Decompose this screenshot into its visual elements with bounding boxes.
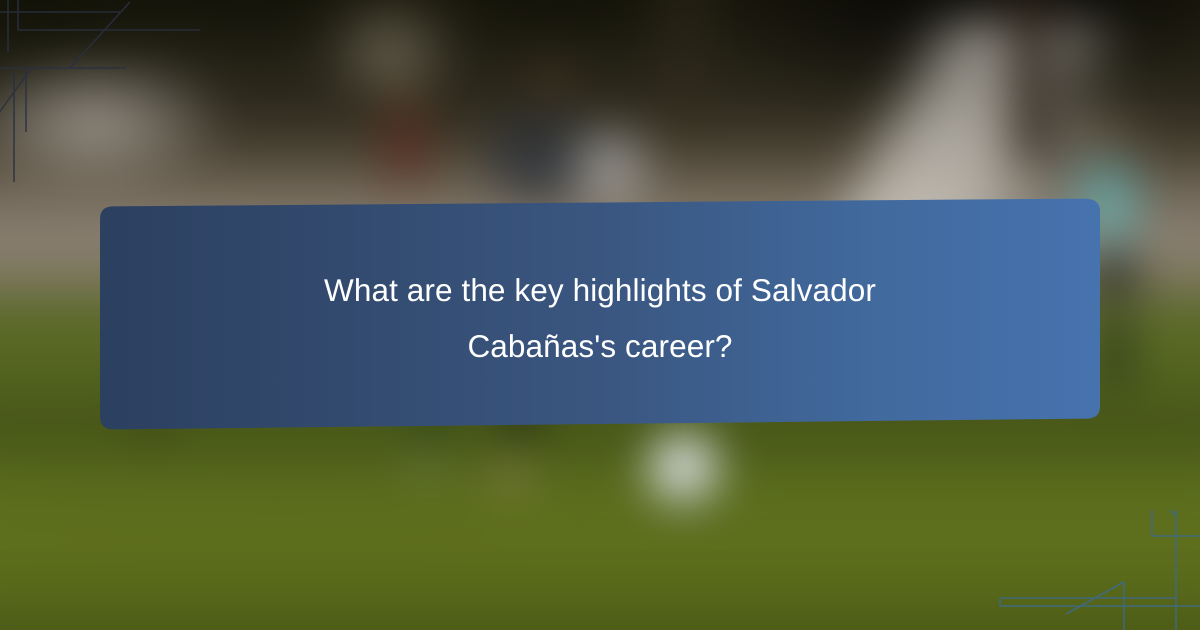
question-text-container: What are the key highlights of Salvador … xyxy=(130,218,1070,418)
question-text: What are the key highlights of Salvador … xyxy=(250,262,950,374)
player-center-head xyxy=(520,45,582,113)
soccer-ball xyxy=(646,432,724,510)
background-post-right xyxy=(1000,0,1060,160)
background-wall-left xyxy=(0,45,260,195)
player-right-head xyxy=(1078,110,1134,168)
share-card-canvas: What are the key highlights of Salvador … xyxy=(0,0,1200,630)
background-post-center xyxy=(650,0,720,140)
player-left-head xyxy=(380,65,432,121)
